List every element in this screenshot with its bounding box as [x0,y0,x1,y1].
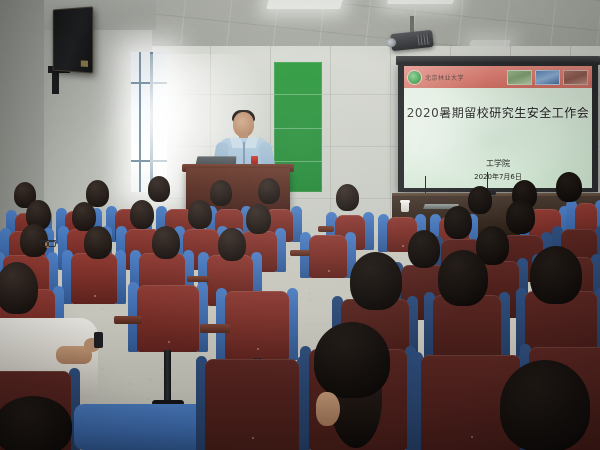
microphone-stem [425,176,426,194]
audience-head [84,226,112,259]
auditorium-seat [300,232,356,278]
ceiling-light-fixture [387,0,455,4]
audience-head [506,200,535,234]
projector-vent [417,33,430,45]
panel-seam [274,161,322,162]
audience-head [188,200,212,229]
seat-cushion [74,404,206,450]
window-mullion [150,52,153,192]
window-mullion [139,52,141,192]
slide-thumb-campus-brick [563,70,588,85]
slide-title: 2020暑期留校研究生安全工作会 [404,104,592,121]
audience-member [210,180,232,206]
slide-organization: 工学院 [404,158,592,169]
audience-head [314,322,390,398]
window-mullion [131,82,167,84]
auditorium-seat [216,288,298,360]
audience-head [438,250,488,306]
audience-face-profile [316,392,340,426]
audience-member [444,206,472,239]
audience-head [258,178,280,204]
audience-head [152,226,180,259]
audience-member [258,178,280,204]
audience-head [336,184,359,211]
slide-background-watermark [418,88,568,184]
audience-member [438,250,488,306]
audience-member [246,204,271,234]
audience-head [0,396,72,450]
university-logo-icon [408,71,421,84]
audience-head [350,252,402,310]
lecture-hall-photo: 学 院 sity 北京林业大学 2020暑期留校研究生安全工作会 工学院 202… [0,0,600,450]
seat-back [309,235,347,278]
seat-back [205,359,299,450]
audience-member [500,360,590,450]
audience-member [130,200,154,229]
phone-icon [94,332,103,348]
slide-university-name: 北京林业大学 [425,73,464,82]
seat-back [225,291,289,360]
projector-lens-icon [386,38,397,48]
wall-speaker-icon [53,6,93,73]
slide-photo-strip [507,70,588,85]
slide-thumb-campus-building [535,70,560,85]
audience-head [530,246,582,304]
audience-head [218,228,246,261]
audience-member [148,176,170,202]
audience-head [148,176,170,202]
audience-head [500,360,590,450]
seat-armrest [200,324,230,333]
audience-member [0,262,38,314]
glasses-icon [40,240,56,245]
audience-member [506,200,535,234]
slide-header-banner: 北京林业大学 [404,66,592,88]
audience-head [0,262,38,314]
audience-head [408,230,440,268]
audience-head [556,172,582,202]
seat-back [137,285,199,352]
auditorium-seat [196,356,308,450]
audience-member [556,172,582,202]
audience-head [130,200,154,229]
audience-member [84,226,112,259]
window [131,52,167,192]
seat-back [71,253,117,304]
window-mullion [131,160,167,162]
seat-pedestal [164,350,171,402]
audience-head [210,180,232,206]
panel-seam [274,94,322,95]
audience-head [444,206,472,239]
panel-seam [274,128,322,129]
audience-member [188,200,212,229]
audience-member [530,246,582,304]
audience-member [218,228,246,261]
auditorium-seat [128,282,208,352]
audience-member [0,396,72,450]
paper-cup-icon [401,202,409,212]
ceiling-light-fixture [266,0,344,9]
presentation-slide: 北京林业大学 2020暑期留校研究生安全工作会 工学院 2020年7月6日 [404,66,592,188]
audience-member [152,226,180,259]
audience-head [246,204,271,234]
audience-member-ponytail [314,322,390,398]
audience-member [350,252,402,310]
audience-member [408,230,440,268]
seat-armrest [290,250,310,256]
presenter-badge-icon [251,156,258,164]
seat-armrest [114,316,142,324]
audience-member [336,184,359,211]
speaker-badge [81,60,88,67]
slide-thumb-campus-green [507,70,532,85]
